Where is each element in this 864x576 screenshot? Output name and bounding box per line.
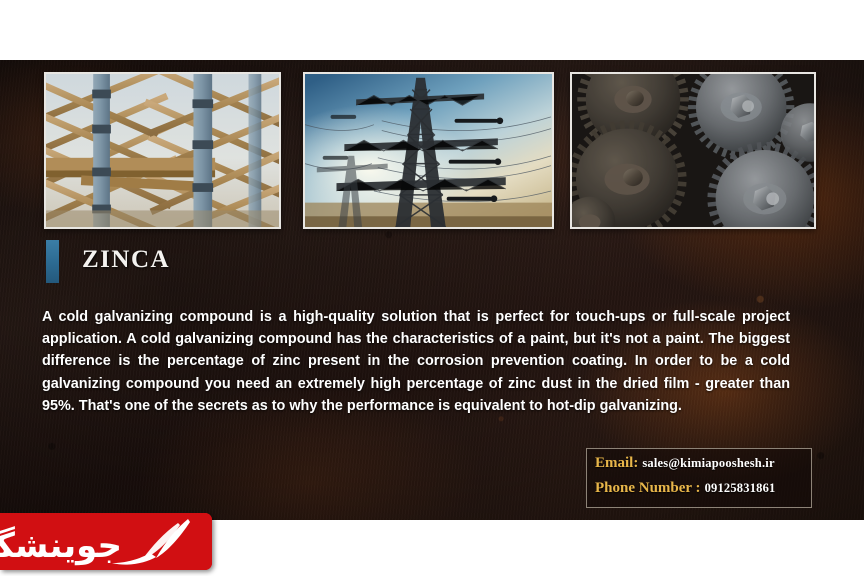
page-title: ZINCA	[82, 246, 170, 274]
steel-structure-photo	[44, 72, 281, 229]
title-accent-bar	[46, 240, 59, 283]
email-value[interactable]: sales@kimiapooshesh.ir	[642, 456, 774, 471]
contact-row-email: Email: sales@kimiapooshesh.ir	[595, 455, 811, 480]
phone-value[interactable]: 09125831861	[705, 481, 776, 496]
slide-root: ZINCA A cold galvanizing compound is a h…	[0, 0, 864, 576]
steel-structure-illustration	[46, 74, 279, 227]
power-pylon-illustration	[305, 74, 552, 227]
contact-info-box: Email: sales@kimiapooshesh.ir Phone Numb…	[586, 448, 812, 508]
phone-label: Phone Number :	[595, 480, 701, 497]
contact-row-phone: Phone Number : 09125831861	[595, 480, 811, 505]
metal-gears-illustration	[572, 74, 814, 227]
brand-logo[interactable]: جوینشگر	[0, 513, 212, 570]
email-label: Email:	[595, 455, 638, 472]
body-paragraph: A cold galvanizing compound is a high-qu…	[42, 306, 790, 417]
metal-gears-photo	[570, 72, 816, 229]
logo-wordmark: جوینشگر	[0, 526, 122, 566]
power-pylon-photo	[303, 72, 554, 229]
jooyeshgar-logo-mark: جوینشگر	[0, 513, 212, 570]
